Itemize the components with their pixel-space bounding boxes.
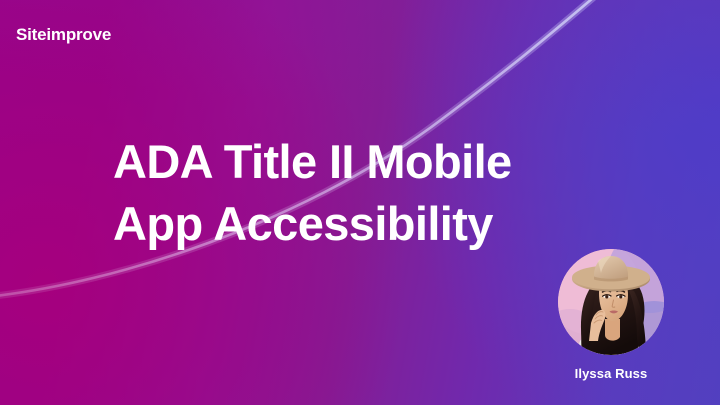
slide-title-line-2: App Accessibility <box>113 193 653 255</box>
speaker-block: Ilyssa Russ <box>531 249 691 380</box>
siteimprove-logo[interactable]: Siteimprove <box>16 26 111 43</box>
avatar-portrait-icon <box>558 249 664 355</box>
slide-title: ADA Title II Mobile App Accessibility <box>113 131 653 255</box>
speaker-name: Ilyssa Russ <box>531 367 691 380</box>
speaker-avatar <box>558 249 664 355</box>
slide-title-line-1: ADA Title II Mobile <box>113 131 653 193</box>
presentation-slide: Siteimprove ADA Title II Mobile App Acce… <box>0 0 720 405</box>
